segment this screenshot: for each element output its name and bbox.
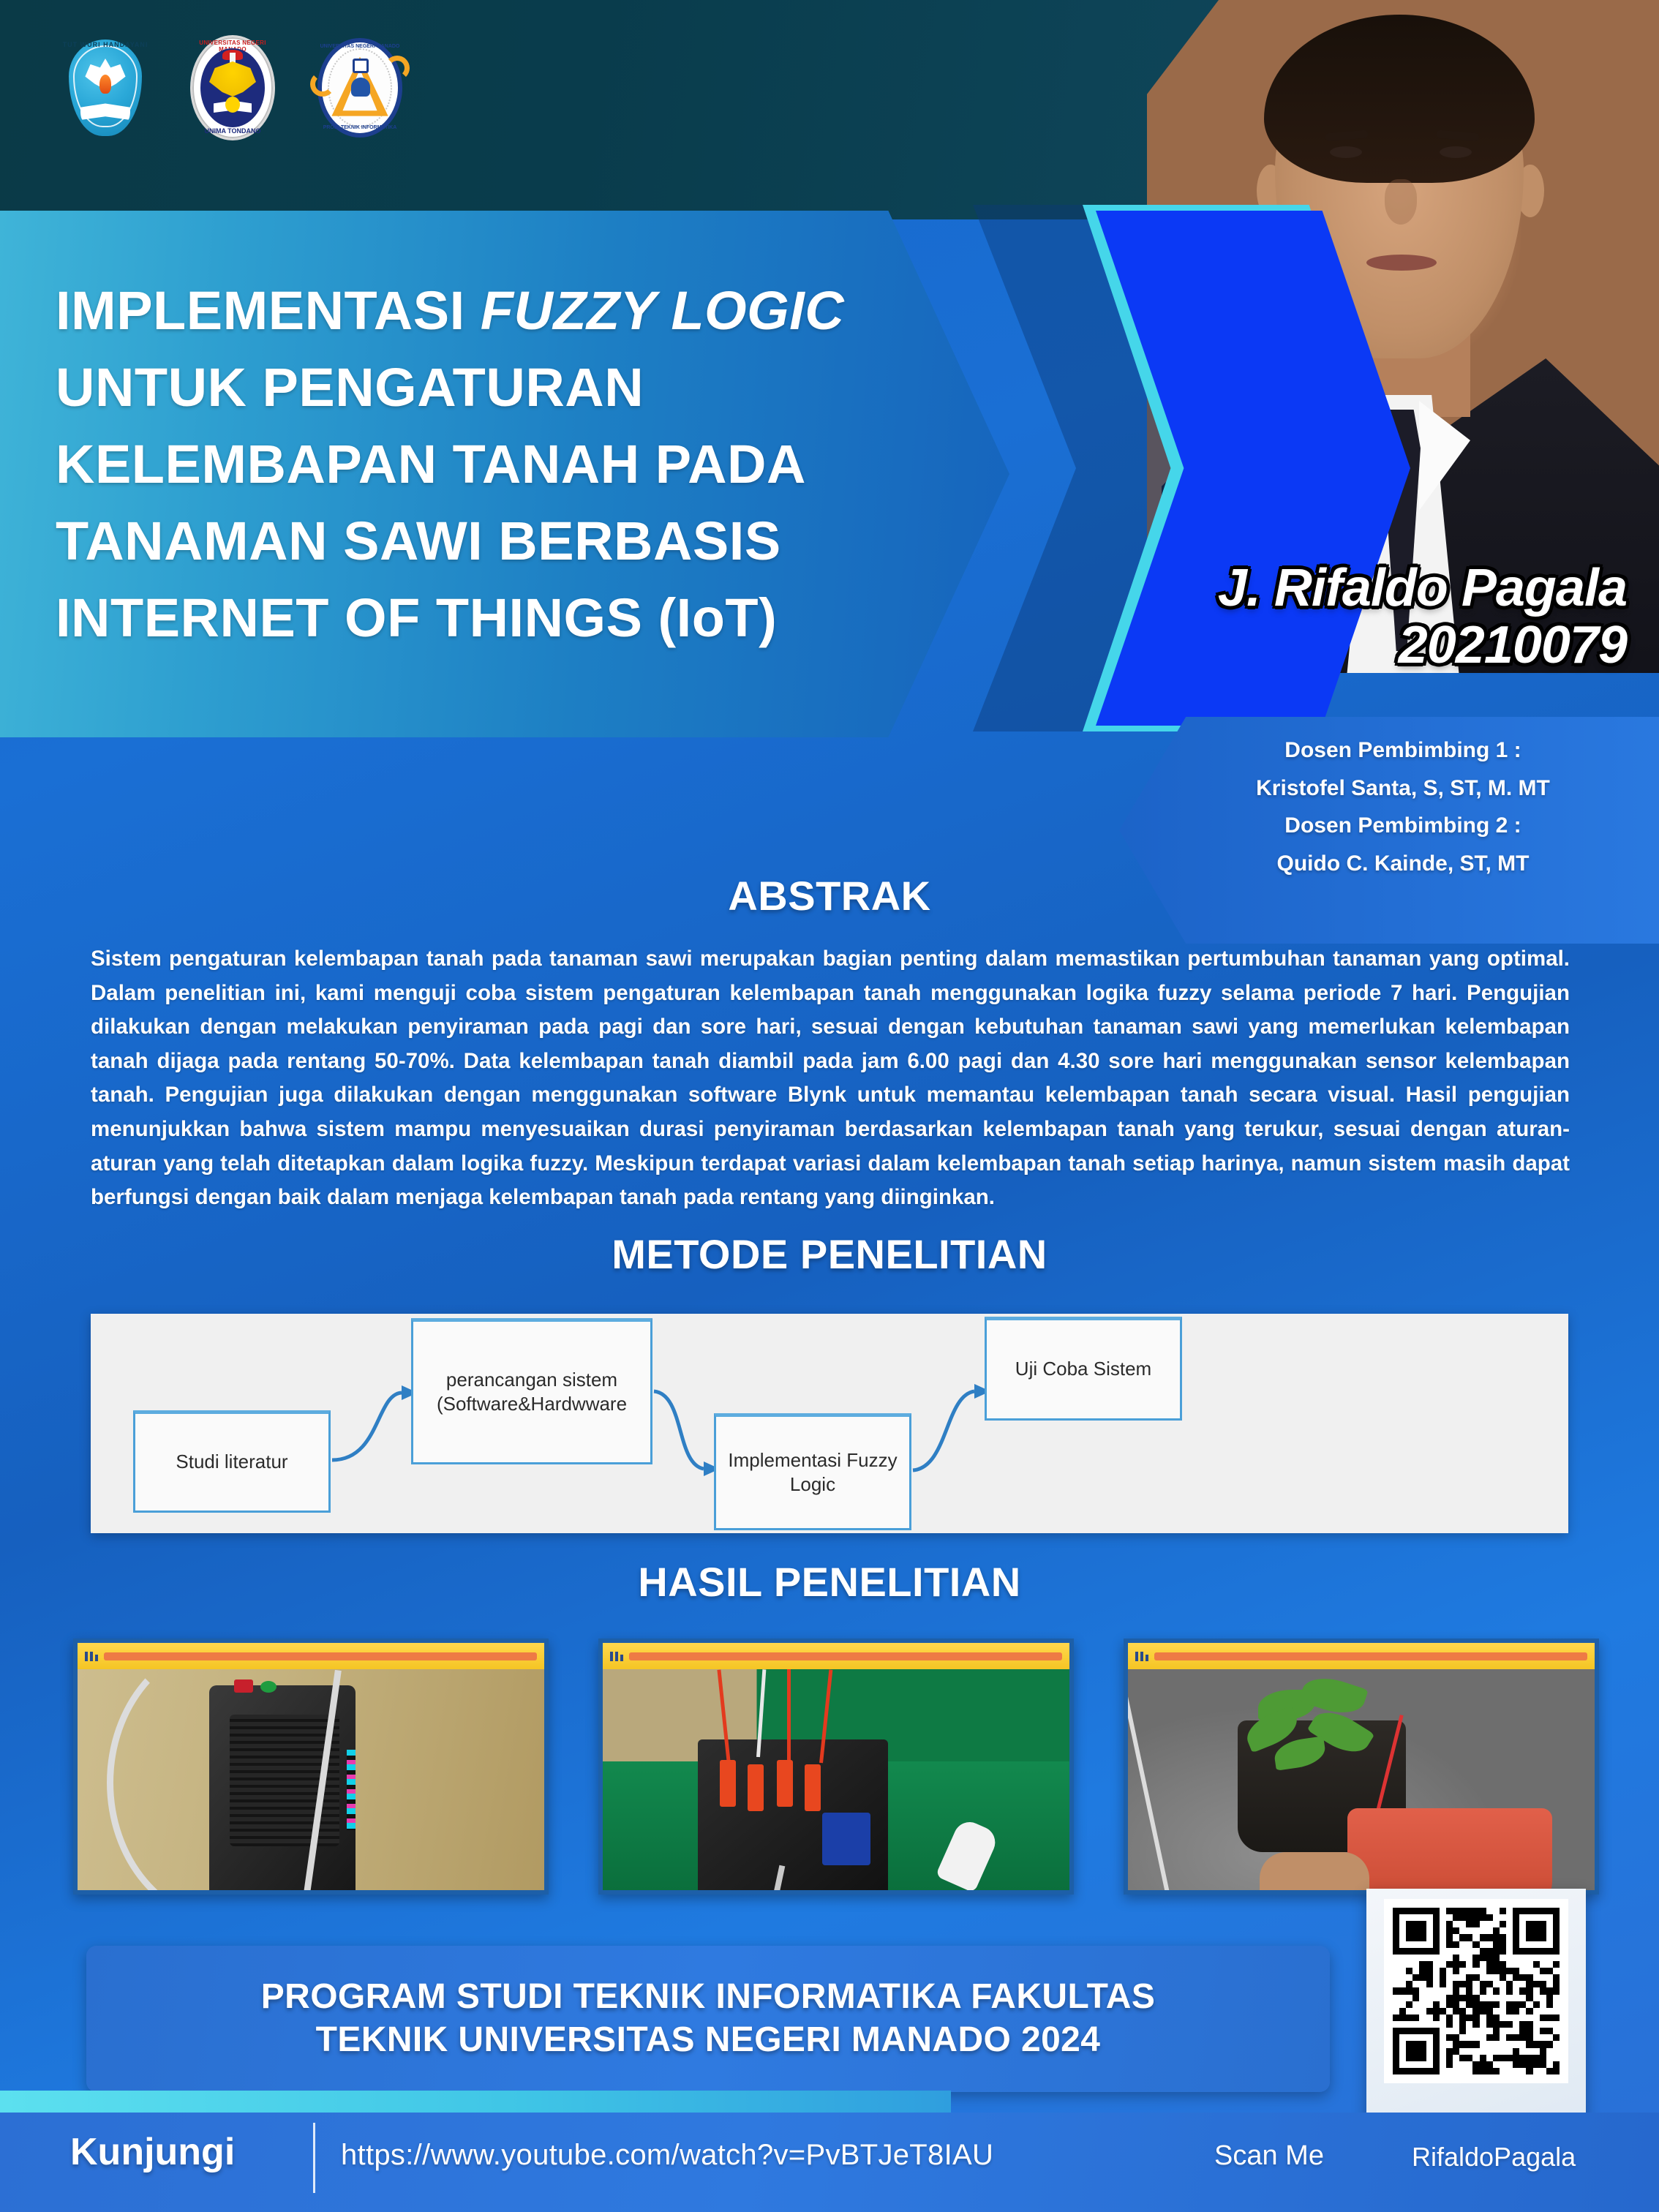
qr-code-icon[interactable] xyxy=(1384,1899,1568,2083)
title-line-5: INTERNET OF THINGS (IoT) xyxy=(56,587,777,648)
title-line-1-plain: IMPLEMENTASI xyxy=(56,280,481,341)
browser-controls-icon xyxy=(85,1652,98,1661)
red-switch xyxy=(234,1679,253,1693)
qr-code-bubble[interactable] xyxy=(1366,1889,1586,2130)
flow-box-uji-coba-sistem: Uji Coba Sistem xyxy=(985,1317,1182,1421)
photo-content-2 xyxy=(603,1669,1069,1895)
author-student-id: 20210079 xyxy=(1012,619,1627,671)
prodi-bottom-text: PRODI TEKNIK INFORMATIKA xyxy=(313,125,407,130)
result-photo-3 xyxy=(1124,1639,1599,1895)
footer-bar: Kunjungi https://www.youtube.com/watch?v… xyxy=(0,2113,1659,2212)
section-heading-metode: METODE PENELITIAN xyxy=(0,1230,1659,1278)
flame-shape xyxy=(99,75,111,94)
footer-divider xyxy=(313,2123,315,2193)
led-strip xyxy=(347,1750,355,1830)
result-photo-2 xyxy=(598,1639,1074,1895)
supervisor-1-label: Dosen Pembimbing 1 : xyxy=(1169,731,1637,770)
prodi-right-hook xyxy=(385,56,410,80)
browser-controls-icon xyxy=(610,1652,623,1661)
photo-content-3 xyxy=(1128,1669,1595,1895)
methodology-flowchart: Studi literatur perancangan sistem (Soft… xyxy=(91,1314,1568,1533)
poster-canvas: TUT WURI HANDAYANI UNIVERSITAS NEGERI MA… xyxy=(0,0,1659,2212)
hair xyxy=(1264,15,1535,183)
prodi-top-text: UNIVERSITAS NEGERI MANADO xyxy=(313,44,407,49)
connector-2 xyxy=(748,1764,764,1811)
qr-modules xyxy=(1393,1908,1560,2074)
browser-url-bar xyxy=(629,1652,1062,1660)
program-line-1: PROGRAM STUDI TEKNIK INFORMATIKA FAKULTA… xyxy=(261,1976,1156,2019)
mouth xyxy=(1366,255,1437,271)
unima-year: 1955 xyxy=(186,115,279,121)
page-title: IMPLEMENTASI FUZZY LOGIC UNTUK PENGATURA… xyxy=(56,272,919,656)
green-indicator xyxy=(260,1681,276,1693)
supervisor-1-name: Kristofel Santa, S, ST, M. MT xyxy=(1169,770,1637,808)
author-name: J. Rifaldo Pagala xyxy=(1218,559,1627,617)
browser-url-bar xyxy=(1154,1652,1587,1660)
prodi-monitor-icon xyxy=(353,59,369,73)
cyan-accent-strip xyxy=(0,2091,951,2113)
program-info-panel: PROGRAM STUDI TEKNIK INFORMATIKA FAKULTA… xyxy=(86,1946,1330,2092)
youtube-url-link[interactable]: https://www.youtube.com/watch?v=PvBTJeT8… xyxy=(341,2139,993,2172)
scan-me-label: Scan Me xyxy=(1214,2140,1324,2172)
title-line-3: KELEMBAPAN TANAH PADA xyxy=(56,434,806,494)
result-photo-1 xyxy=(73,1639,549,1895)
eye-right xyxy=(1440,146,1472,158)
hand xyxy=(1260,1852,1369,1895)
social-handle: RifaldoPagala xyxy=(1412,2142,1576,2172)
browser-controls-icon xyxy=(1135,1652,1148,1661)
water-tube xyxy=(1124,1679,1170,1895)
photo-browser-bar-1 xyxy=(78,1643,544,1669)
title-line-1-italic: FUZZY LOGIC xyxy=(481,280,844,341)
prodi-graduate-icon xyxy=(351,78,370,97)
title-line-2: UNTUK PENGATURAN xyxy=(56,357,644,418)
author-credit: J. Rifaldo Pagala 20210079 xyxy=(1012,562,1627,671)
photo-browser-bar-2 xyxy=(603,1643,1069,1669)
supervisor-2-label: Dosen Pembimbing 2 : xyxy=(1169,807,1637,845)
nose xyxy=(1385,179,1417,225)
flow-box-studi-literatur: Studi literatur xyxy=(133,1410,331,1513)
relay-module xyxy=(822,1813,870,1865)
orange-bucket xyxy=(1347,1808,1552,1895)
program-line-2: TEKNIK UNIVERSITAS NEGERI MANADO 2024 xyxy=(316,2019,1101,2062)
prodi-teknik-informatika-logo-icon: UNIVERSITAS NEGERI MANADO PRODI TEKNIK I… xyxy=(313,29,407,146)
wire-3 xyxy=(787,1669,791,1772)
prodi-left-hook xyxy=(310,72,335,97)
unima-seed xyxy=(225,97,240,113)
supervisor-list: Dosen Pembimbing 1 : Kristofel Santa, S,… xyxy=(1169,731,1637,882)
title-line-4: TANAMAN SAWI BERBASIS xyxy=(56,511,781,571)
connector-4 xyxy=(805,1764,821,1811)
photo-browser-bar-3 xyxy=(1128,1643,1595,1669)
flow-box-perancangan-sistem: perancangan sistem (Software&Hardwware xyxy=(411,1318,652,1464)
eye-left xyxy=(1330,146,1362,158)
section-heading-abstrak: ABSTRAK xyxy=(0,872,1659,919)
connector-3 xyxy=(777,1760,793,1807)
visit-label: Kunjungi xyxy=(70,2130,235,2174)
connector-1 xyxy=(720,1760,736,1807)
abstract-text: Sistem pengaturan kelembapan tanah pada … xyxy=(91,942,1570,1215)
flow-box-implementasi-fuzzy-logic: Implementasi Fuzzy Logic xyxy=(714,1413,911,1530)
section-heading-hasil: HASIL PENELITIAN xyxy=(0,1558,1659,1606)
unima-bottom-text: UNIMA TONDANO xyxy=(186,127,279,135)
unima-logo-icon: UNIVERSITAS NEGERI MANADO 1955 UNIMA TON… xyxy=(186,29,279,146)
institution-logos: TUT WURI HANDAYANI UNIVERSITAS NEGERI MA… xyxy=(59,29,407,146)
tut-wuri-handayani-logo-icon: TUT WURI HANDAYANI xyxy=(59,29,152,146)
tutwuri-arc-text: TUT WURI HANDAYANI xyxy=(59,41,152,48)
photo-content-1 xyxy=(78,1669,544,1895)
